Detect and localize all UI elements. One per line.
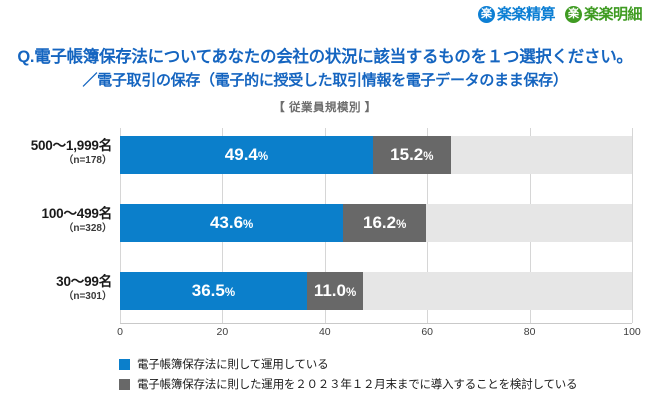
bar-segment-series-1[interactable]: 43.6% bbox=[120, 204, 343, 242]
logo-wordmark: 楽楽精算 bbox=[497, 7, 555, 22]
category-sample-size: （n=301） bbox=[0, 291, 112, 303]
bar-value-label: 15.2% bbox=[390, 145, 433, 165]
bar-segment-series-1[interactable]: 49.4% bbox=[120, 136, 373, 174]
x-tick-label: 80 bbox=[524, 326, 536, 338]
stacked-bar-chart: 500～1,999名 （n=178） 100～499名 （n=328） 30～9… bbox=[0, 128, 650, 333]
x-tick-label: 0 bbox=[117, 326, 123, 338]
table-row: 43.6% 16.2% bbox=[120, 204, 632, 242]
chart-legend: 電子帳簿保存法に則して運用している 電子帳簿保存法に則した運用を２０２３年１２月… bbox=[119, 354, 639, 394]
legend-item-series-1[interactable]: 電子帳簿保存法に則して運用している bbox=[119, 354, 639, 374]
category-axis-labels: 500～1,999名 （n=178） 100～499名 （n=328） 30～9… bbox=[0, 128, 112, 323]
table-row: 36.5% 11.0% bbox=[120, 272, 632, 310]
logo-badge-icon: 楽 bbox=[565, 6, 582, 23]
chart-title-line-2: ／電子取引の保存（電子的に授受した取引情報を電子データのまま保存） bbox=[0, 69, 650, 92]
x-axis-ticks: 0 20 40 60 80 100 bbox=[120, 326, 632, 342]
logo-badge-icon: 楽 bbox=[478, 6, 495, 23]
category-label: 30～99名 （n=301） bbox=[0, 274, 112, 302]
bar-value-label: 36.5% bbox=[192, 281, 235, 301]
bar-segment-series-1[interactable]: 36.5% bbox=[120, 272, 307, 310]
x-tick-label: 100 bbox=[623, 326, 641, 338]
chart-title-line-1: Q.電子帳簿保存法についてあなたの会社の状況に該当するものを１つ選択ください。 bbox=[0, 45, 650, 69]
x-axis-line bbox=[120, 323, 632, 324]
bar-rows: 49.4% 15.2% 43.6% 16.2% 36.5% 11 bbox=[120, 128, 632, 323]
legend-swatch-icon bbox=[119, 359, 130, 370]
x-tick-label: 60 bbox=[421, 326, 433, 338]
chart-subtitle: 【 従業員規模別 】 bbox=[0, 99, 650, 115]
x-tick-label: 40 bbox=[319, 326, 331, 338]
gridline bbox=[632, 128, 633, 323]
brand-logo-bar: 楽 楽楽精算 楽 楽楽明細 bbox=[478, 6, 642, 23]
legend-label: 電子帳簿保存法に則して運用している bbox=[137, 356, 328, 372]
bar-value-label: 49.4% bbox=[225, 145, 268, 165]
legend-label: 電子帳簿保存法に則した運用を２０２３年１２月末までに導入することを検討している bbox=[137, 376, 577, 392]
category-name: 100～499名 bbox=[0, 206, 112, 222]
category-sample-size: （n=328） bbox=[0, 223, 112, 235]
bar-segment-series-2[interactable]: 11.0% bbox=[307, 272, 363, 310]
category-label: 100～499名 （n=328） bbox=[0, 206, 112, 234]
logo-rakuraku-meisai: 楽 楽楽明細 bbox=[565, 6, 642, 23]
legend-item-series-2[interactable]: 電子帳簿保存法に則した運用を２０２３年１２月末までに導入することを検討している bbox=[119, 374, 639, 394]
bar-value-label: 16.2% bbox=[363, 213, 406, 233]
logo-rakuraku-seisan: 楽 楽楽精算 bbox=[478, 6, 555, 23]
category-name: 30～99名 bbox=[0, 274, 112, 290]
x-tick-label: 20 bbox=[217, 326, 229, 338]
bar-segment-series-2[interactable]: 15.2% bbox=[373, 136, 451, 174]
bar-value-label: 11.0% bbox=[314, 281, 356, 301]
category-label: 500～1,999名 （n=178） bbox=[0, 138, 112, 166]
bar-segment-series-2[interactable]: 16.2% bbox=[343, 204, 426, 242]
legend-swatch-icon bbox=[119, 379, 130, 390]
category-sample-size: （n=178） bbox=[0, 155, 112, 167]
plot-area: 49.4% 15.2% 43.6% 16.2% 36.5% 11 bbox=[120, 128, 632, 323]
chart-title: Q.電子帳簿保存法についてあなたの会社の状況に該当するものを１つ選択ください。 … bbox=[0, 45, 650, 92]
table-row: 49.4% 15.2% bbox=[120, 136, 632, 174]
category-name: 500～1,999名 bbox=[0, 138, 112, 154]
logo-wordmark: 楽楽明細 bbox=[584, 7, 642, 22]
bar-value-label: 43.6% bbox=[210, 213, 253, 233]
